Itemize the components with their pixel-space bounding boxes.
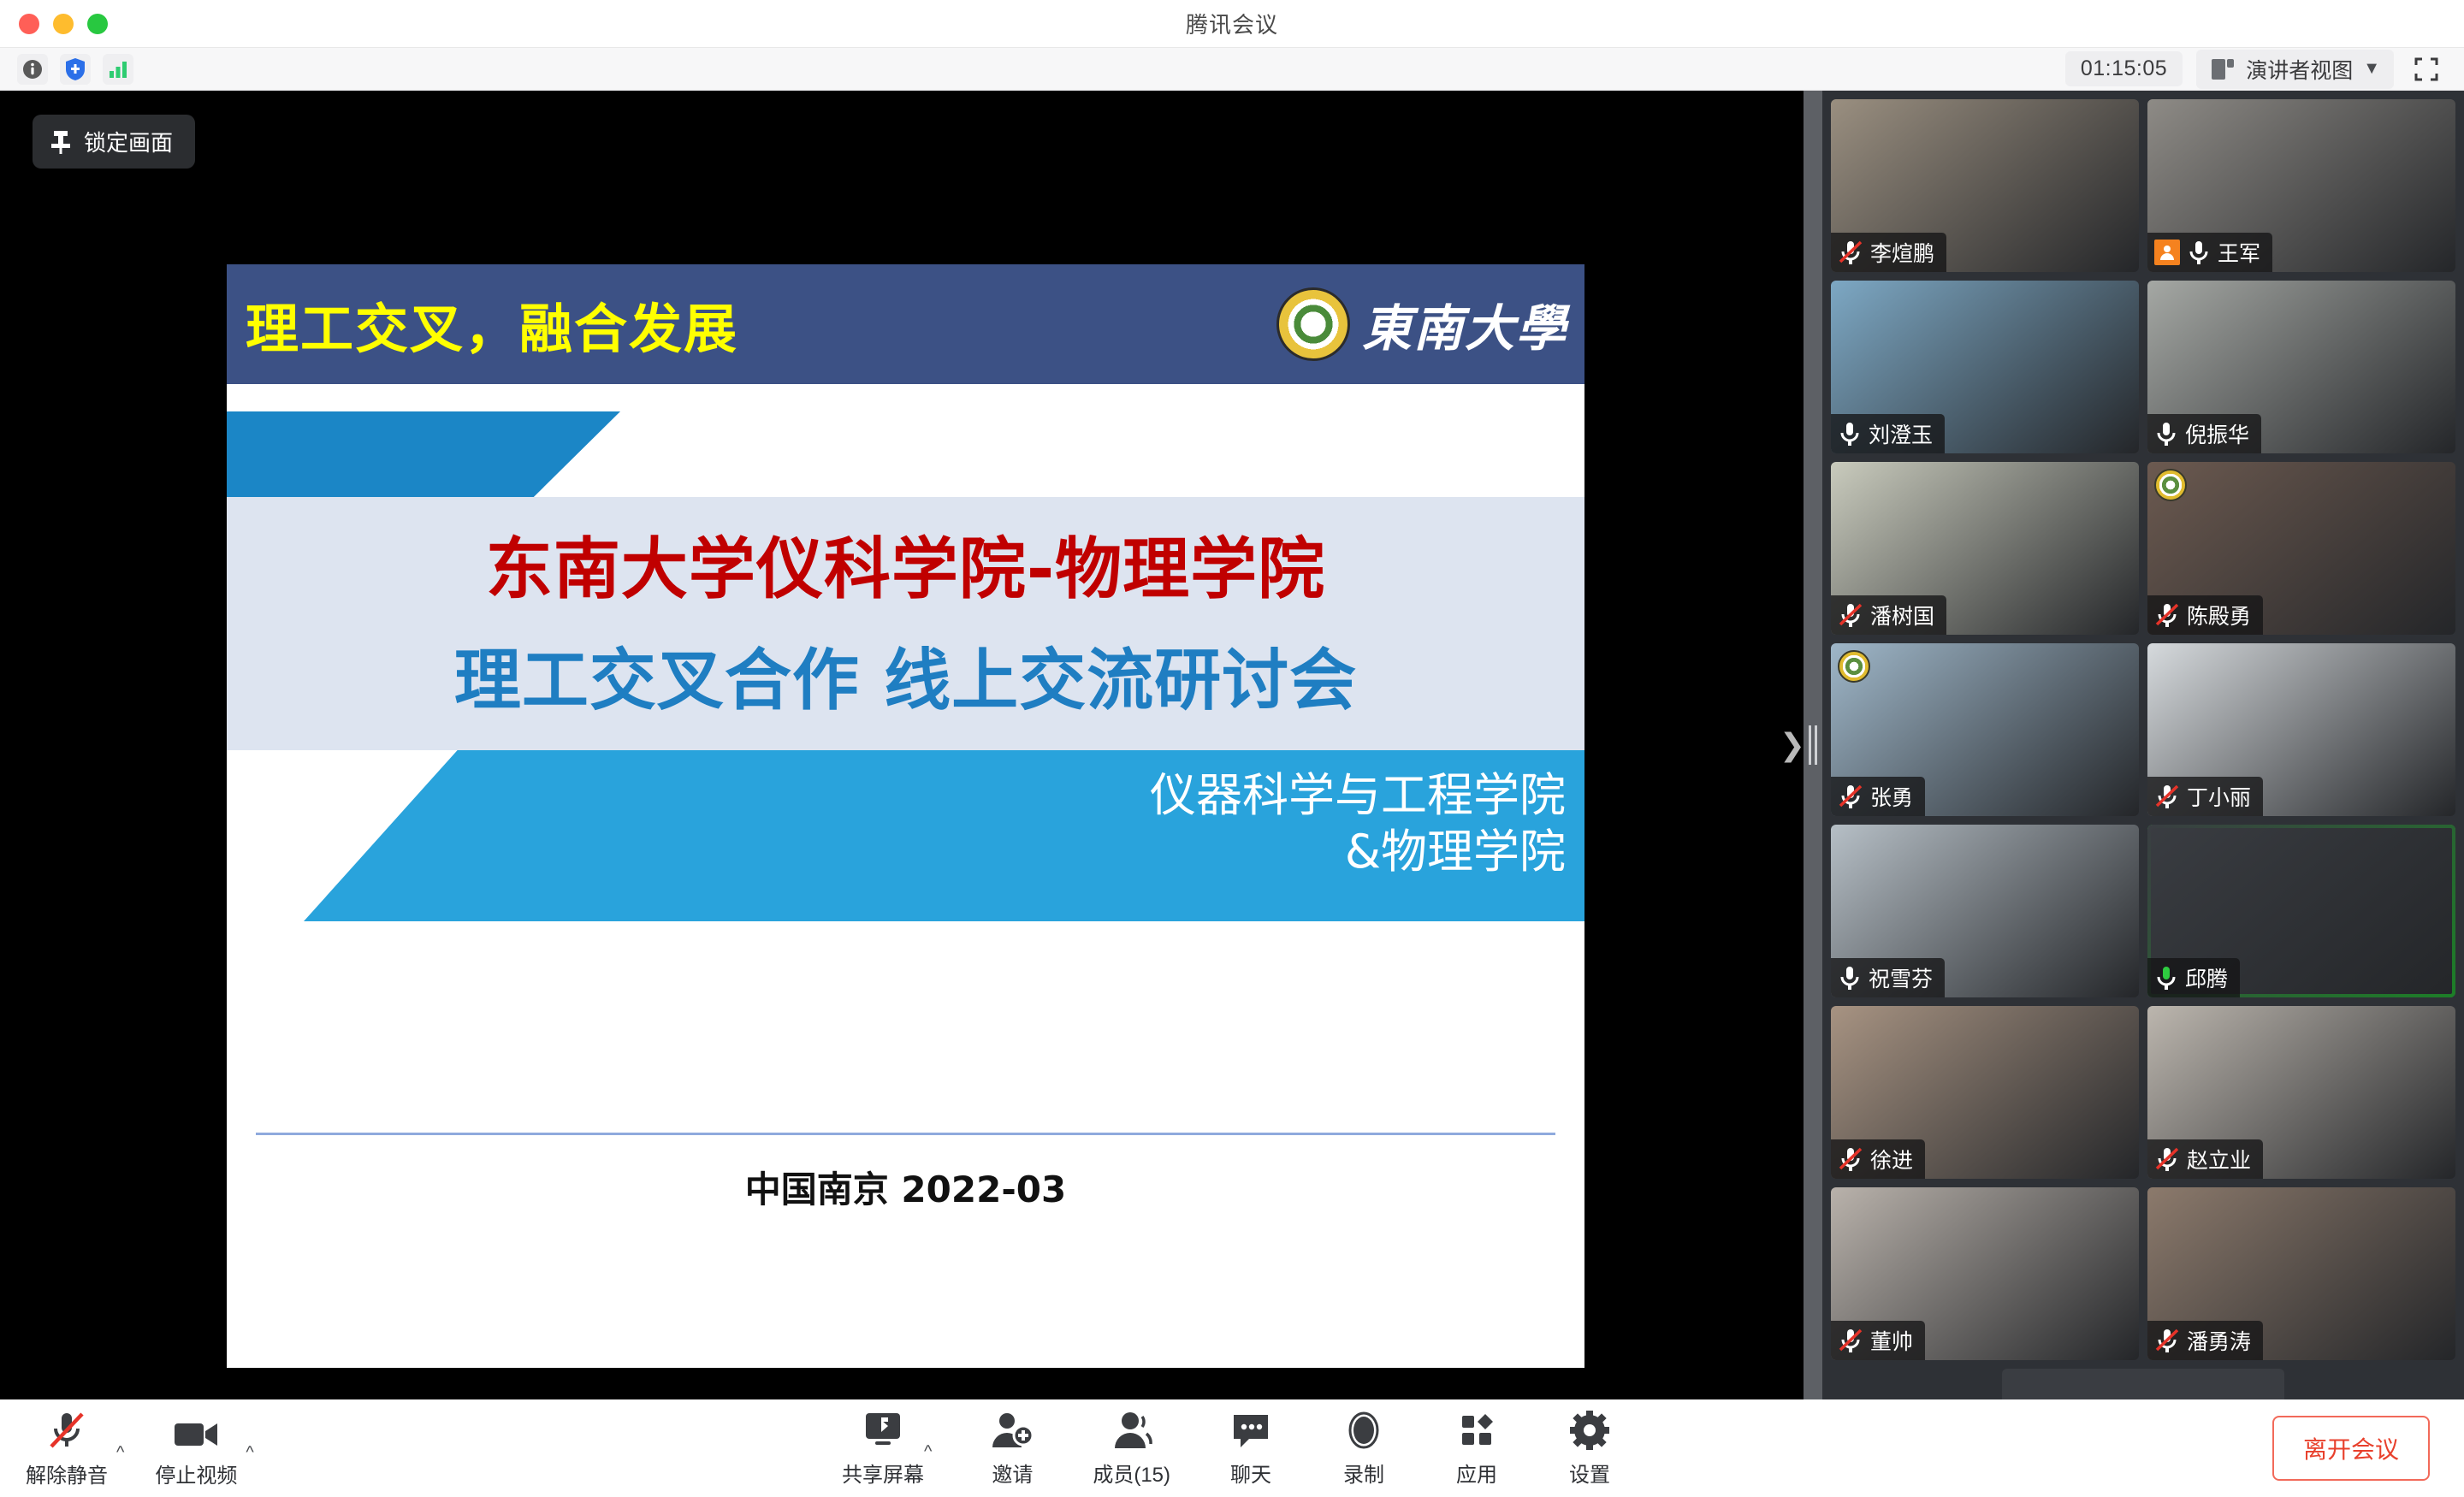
control-item-label: 成员(15)	[1093, 1458, 1170, 1488]
meeting-timer: 01:15:05	[2065, 51, 2183, 86]
control-item-wrapper: 成员(15)	[1093, 1410, 1170, 1488]
control-item-wrapper: 邀请	[980, 1410, 1045, 1488]
control-item-label: 应用	[1456, 1458, 1497, 1488]
university-name: 東南大學	[1362, 288, 1567, 360]
participant-name: 董帅	[1870, 1325, 1913, 1356]
slide-title-primary: 东南大学仪科学院-物理学院	[227, 516, 1584, 612]
participant-name-bar: 徐进	[1831, 1139, 1925, 1179]
participant-name: 李煊鹏	[1870, 237, 1934, 268]
network-stats-button[interactable]	[103, 54, 133, 85]
participant-name: 丁小丽	[2187, 781, 2251, 812]
mic-muted-icon	[1838, 1328, 1863, 1353]
participant-name: 邱腾	[2185, 962, 2228, 993]
mic-icon	[2154, 421, 2178, 447]
mic-muted-icon	[1838, 602, 1863, 628]
apps-button[interactable]: 应用	[1444, 1410, 1509, 1488]
participant-name-bar: 潘勇涛	[2147, 1321, 2263, 1360]
toolbar-right-group: 01:15:05 演讲者视图 ▼	[2065, 50, 2464, 89]
security-button[interactable]	[60, 54, 91, 85]
control-item-label: 录制	[1343, 1458, 1384, 1488]
mic-muted-icon	[2154, 784, 2180, 809]
window-titlebar: 腾讯会议	[0, 0, 2464, 48]
participant-name-bar: 祝雪芬	[1831, 958, 1945, 997]
lock-screen-button[interactable]: 锁定画面	[33, 115, 195, 169]
record-button[interactable]: 录制	[1331, 1410, 1396, 1488]
panel-drag-handle[interactable]	[1804, 91, 1822, 1399]
university-seal-icon	[1276, 287, 1350, 361]
network-stats-icon	[107, 59, 129, 80]
pin-icon	[50, 129, 72, 155]
control-item-wrapper: 聊天	[1218, 1410, 1283, 1488]
slide-banner: 理工交叉，融合发展 東南大學	[227, 264, 1584, 384]
chat-bubble-button[interactable]: 聊天	[1218, 1410, 1283, 1488]
control-item-label: 设置	[1569, 1458, 1610, 1488]
invite-user-button[interactable]: 邀请	[980, 1410, 1045, 1488]
participant-tile[interactable]: 丁小丽	[2147, 643, 2455, 816]
participant-name-bar: 邱腾	[2147, 958, 2240, 997]
participant-name-bar: 赵立业	[2147, 1139, 2263, 1179]
gear-button[interactable]: 设置	[1557, 1410, 1622, 1488]
mic-muted-icon	[2154, 1328, 2180, 1353]
control-item-label: 聊天	[1230, 1458, 1271, 1488]
control-item-label: 邀请	[992, 1458, 1033, 1488]
mic-icon	[2187, 240, 2211, 265]
gear-icon	[1566, 1410, 1614, 1453]
view-mode-label: 演讲者视图	[2246, 54, 2353, 85]
participant-name-bar: 倪振华	[2147, 414, 2261, 453]
share-screen-button[interactable]: 共享屏幕	[842, 1410, 924, 1488]
participant-tile[interactable]: 刘澄玉	[1831, 281, 2139, 453]
invite-user-icon	[988, 1410, 1036, 1453]
shared-content-stage: 锁定画面 理工交叉，融合发展 東南大學 东南大学仪科学院-物理学院 理工交叉合作…	[0, 91, 1822, 1399]
participant-name-bar: 李煊鹏	[1831, 233, 1946, 272]
participant-tile[interactable]: 潘树国	[1831, 462, 2139, 635]
control-item-label: 共享屏幕	[842, 1458, 924, 1488]
participant-tile[interactable]: 倪振华	[2147, 281, 2455, 453]
leave-meeting-button[interactable]: 离开会议	[2272, 1416, 2430, 1481]
participant-name-bar: 陈殿勇	[2147, 595, 2263, 635]
meeting-control-bar: 解除静音 ^ 停止视频 ^ 共享屏幕^邀请成员(15)聊天录制应用设置 离开会议	[0, 1399, 2464, 1497]
participant-name: 潘树国	[1870, 600, 1934, 630]
mic-icon	[1838, 965, 1862, 991]
security-shield-icon	[64, 57, 86, 81]
participant-name: 陈殿勇	[2187, 600, 2251, 630]
meeting-toolbar: 01:15:05 演讲者视图 ▼	[0, 48, 2464, 91]
lock-screen-label: 锁定画面	[84, 126, 173, 157]
participant-tile[interactable]: 张勇	[1831, 643, 2139, 816]
participant-video-rail: 李煊鹏王军刘澄玉倪振华潘树国陈殿勇张勇丁小丽祝雪芬邱腾徐进赵立业董帅潘勇涛	[1822, 91, 2464, 1399]
slide-department-block: 仪器科学与工程学院 &物理学院	[1150, 767, 1566, 880]
participant-tile[interactable]: 王军	[2147, 99, 2455, 272]
participants-button[interactable]: 成员(15)	[1093, 1410, 1170, 1488]
participant-name: 赵立业	[2187, 1144, 2251, 1175]
chevron-down-icon: ▼	[2363, 59, 2380, 79]
slide-divider	[256, 1133, 1555, 1135]
mic-icon	[2154, 965, 2178, 991]
slide-banner-title: 理工交叉，融合发展	[227, 286, 738, 363]
slide-decor-shape-top	[227, 411, 620, 497]
participant-tile[interactable]: 祝雪芬	[1831, 825, 2139, 997]
mic-muted-icon	[1838, 240, 1863, 265]
control-item-wrapper: 共享屏幕^	[842, 1410, 932, 1488]
participant-name: 徐进	[1870, 1144, 1913, 1175]
participant-grid[interactable]: 李煊鹏王军刘澄玉倪振华潘树国陈殿勇张勇丁小丽祝雪芬邱腾徐进赵立业董帅潘勇涛	[1831, 99, 2455, 1360]
participant-name-bar: 刘澄玉	[1831, 414, 1945, 453]
participant-name-bar: 董帅	[1831, 1321, 1925, 1360]
participant-tile[interactable]: 李煊鹏	[1831, 99, 2139, 272]
mic-muted-icon	[1838, 784, 1863, 809]
apps-icon	[1453, 1410, 1501, 1453]
window-title: 腾讯会议	[0, 8, 2464, 39]
participant-tile[interactable]: 董帅	[1831, 1187, 2139, 1360]
speaker-view-icon	[2210, 57, 2236, 81]
participant-name: 张勇	[1870, 781, 1913, 812]
participant-name-bar: 丁小丽	[2147, 777, 2263, 816]
participant-tile[interactable]: 陈殿勇	[2147, 462, 2455, 635]
collapse-panel-chevron-right-icon[interactable]: ❯	[1780, 730, 1805, 760]
control-bar-center-group: 共享屏幕^邀请成员(15)聊天录制应用设置	[0, 1410, 2464, 1488]
control-item-wrapper: 录制	[1331, 1410, 1396, 1488]
toolbar-left-group	[0, 54, 133, 85]
share-options-chevron-up-icon[interactable]: ^	[924, 1442, 932, 1488]
mic-icon	[1838, 421, 1862, 447]
university-logo: 東南大學	[1276, 287, 1567, 361]
info-icon	[21, 58, 44, 80]
record-icon	[1340, 1410, 1388, 1453]
participants-icon	[1108, 1410, 1156, 1453]
fullscreen-button[interactable]	[2408, 52, 2445, 86]
info-button[interactable]	[17, 54, 48, 85]
participant-name-bar: 张勇	[1831, 777, 1925, 816]
mic-muted-icon	[1838, 1146, 1863, 1172]
department-line-2: &物理学院	[1150, 824, 1566, 880]
slide-title-secondary: 理工交叉合作 线上交流研讨会	[227, 627, 1584, 723]
chat-bubble-icon	[1227, 1410, 1275, 1453]
participant-tile[interactable]: 徐进	[1831, 1006, 2139, 1179]
host-badge-icon	[2154, 240, 2180, 265]
participant-name: 倪振华	[2185, 418, 2249, 449]
participant-name: 刘澄玉	[1869, 418, 1933, 449]
participant-tile[interactable]: 赵立业	[2147, 1006, 2455, 1179]
participant-name: 王军	[2218, 237, 2260, 268]
slide-title-band: 东南大学仪科学院-物理学院 理工交叉合作 线上交流研讨会	[227, 497, 1584, 750]
university-seal-icon	[2154, 469, 2187, 501]
slide-footer-text: 中国南京 2022-03	[227, 1161, 1584, 1213]
participant-name-bar: 王军	[2147, 233, 2272, 272]
participant-tile[interactable]: 潘勇涛	[2147, 1187, 2455, 1360]
view-mode-selector[interactable]: 演讲者视图 ▼	[2196, 50, 2394, 89]
control-item-wrapper: 应用	[1444, 1410, 1509, 1488]
participant-tile[interactable]: 邱腾	[2147, 825, 2455, 997]
share-screen-icon	[859, 1410, 907, 1453]
mic-muted-icon	[2154, 602, 2180, 628]
university-seal-icon	[1838, 650, 1870, 683]
fullscreen-icon	[2414, 56, 2439, 82]
control-item-wrapper: 设置	[1557, 1410, 1622, 1488]
participant-name: 潘勇涛	[2187, 1325, 2251, 1356]
department-line-1: 仪器科学与工程学院	[1150, 767, 1566, 824]
participant-name-bar: 潘树国	[1831, 595, 1946, 635]
participant-name: 祝雪芬	[1869, 962, 1933, 993]
presentation-slide: 理工交叉，融合发展 東南大學 东南大学仪科学院-物理学院 理工交叉合作 线上交流…	[227, 264, 1584, 1368]
mic-muted-icon	[2154, 1146, 2180, 1172]
